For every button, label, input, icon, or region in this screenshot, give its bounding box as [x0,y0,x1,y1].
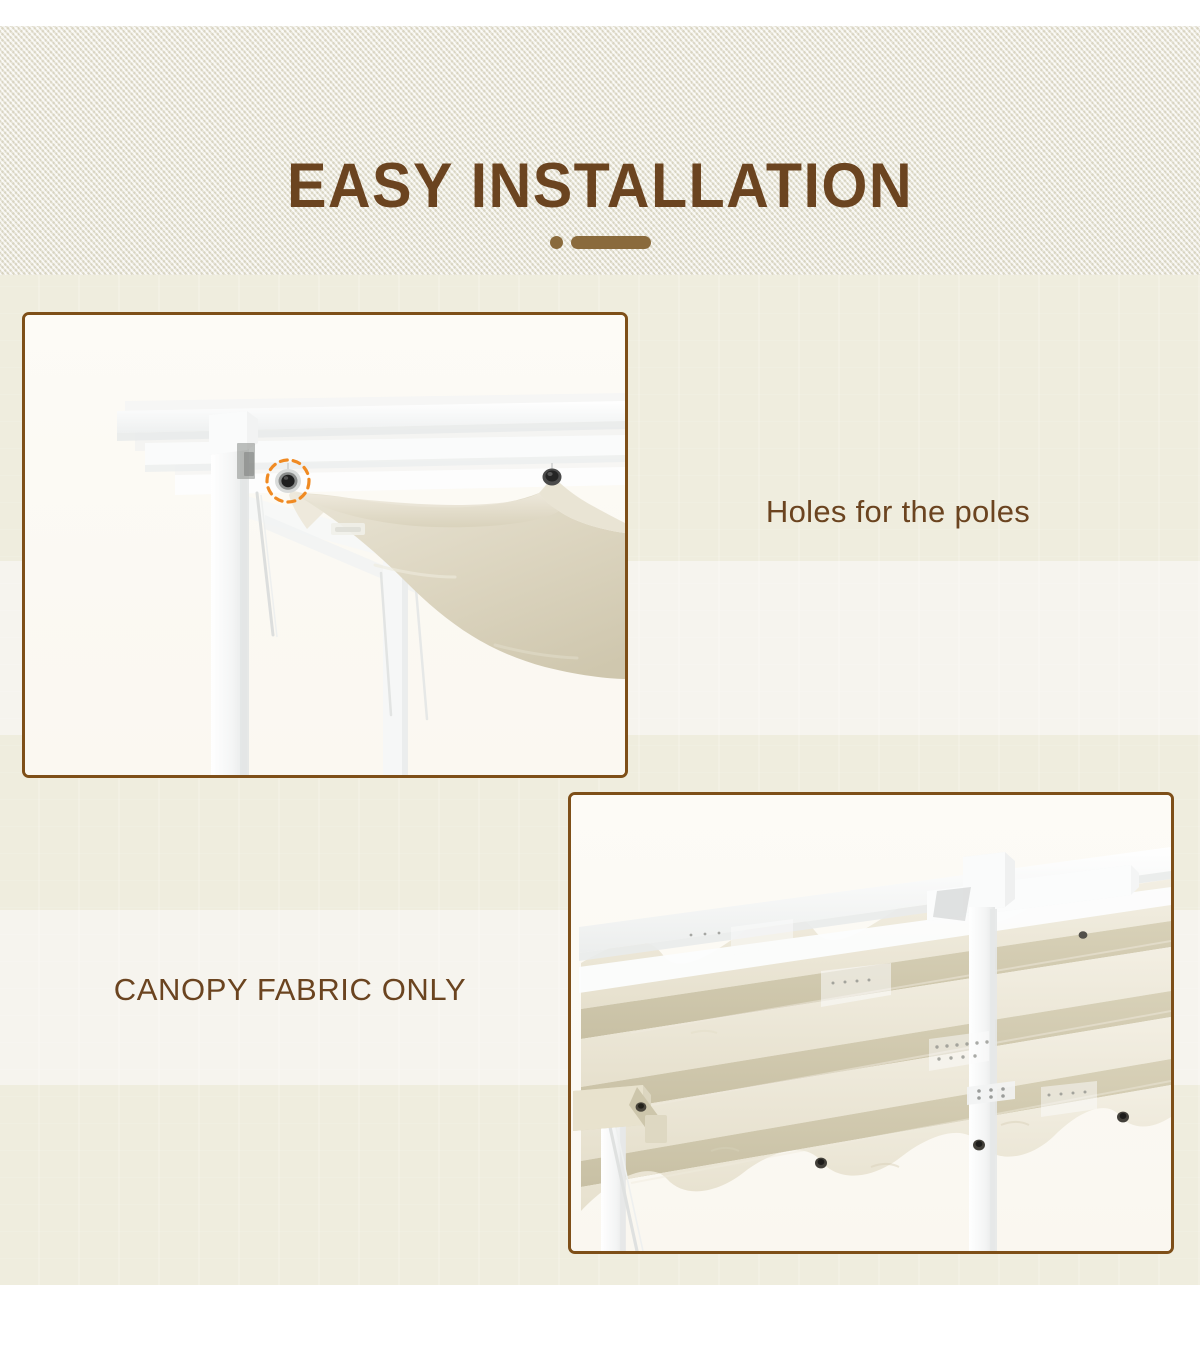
ornament-dot-icon [550,236,563,249]
feature-photo-panel-canopy [568,792,1174,1254]
feature-photo-panel-holes [22,312,628,778]
bottom-white-strip [0,1285,1200,1372]
title-ornament [0,236,1200,249]
top-white-strip [0,0,1200,26]
caption-canopy-fabric-only: CANOPY FABRIC ONLY [30,972,550,1008]
caption-holes-for-the-poles: Holes for the poles [628,494,1168,530]
pergola-canopy-grommet-closeup-photo [25,315,625,775]
page-title: EASY INSTALLATION [36,150,1164,222]
pergola-retractable-canopy-overview-photo [571,795,1171,1251]
infographic-page: EASY INSTALLATION [0,0,1200,1372]
ornament-bar-icon [571,236,651,249]
